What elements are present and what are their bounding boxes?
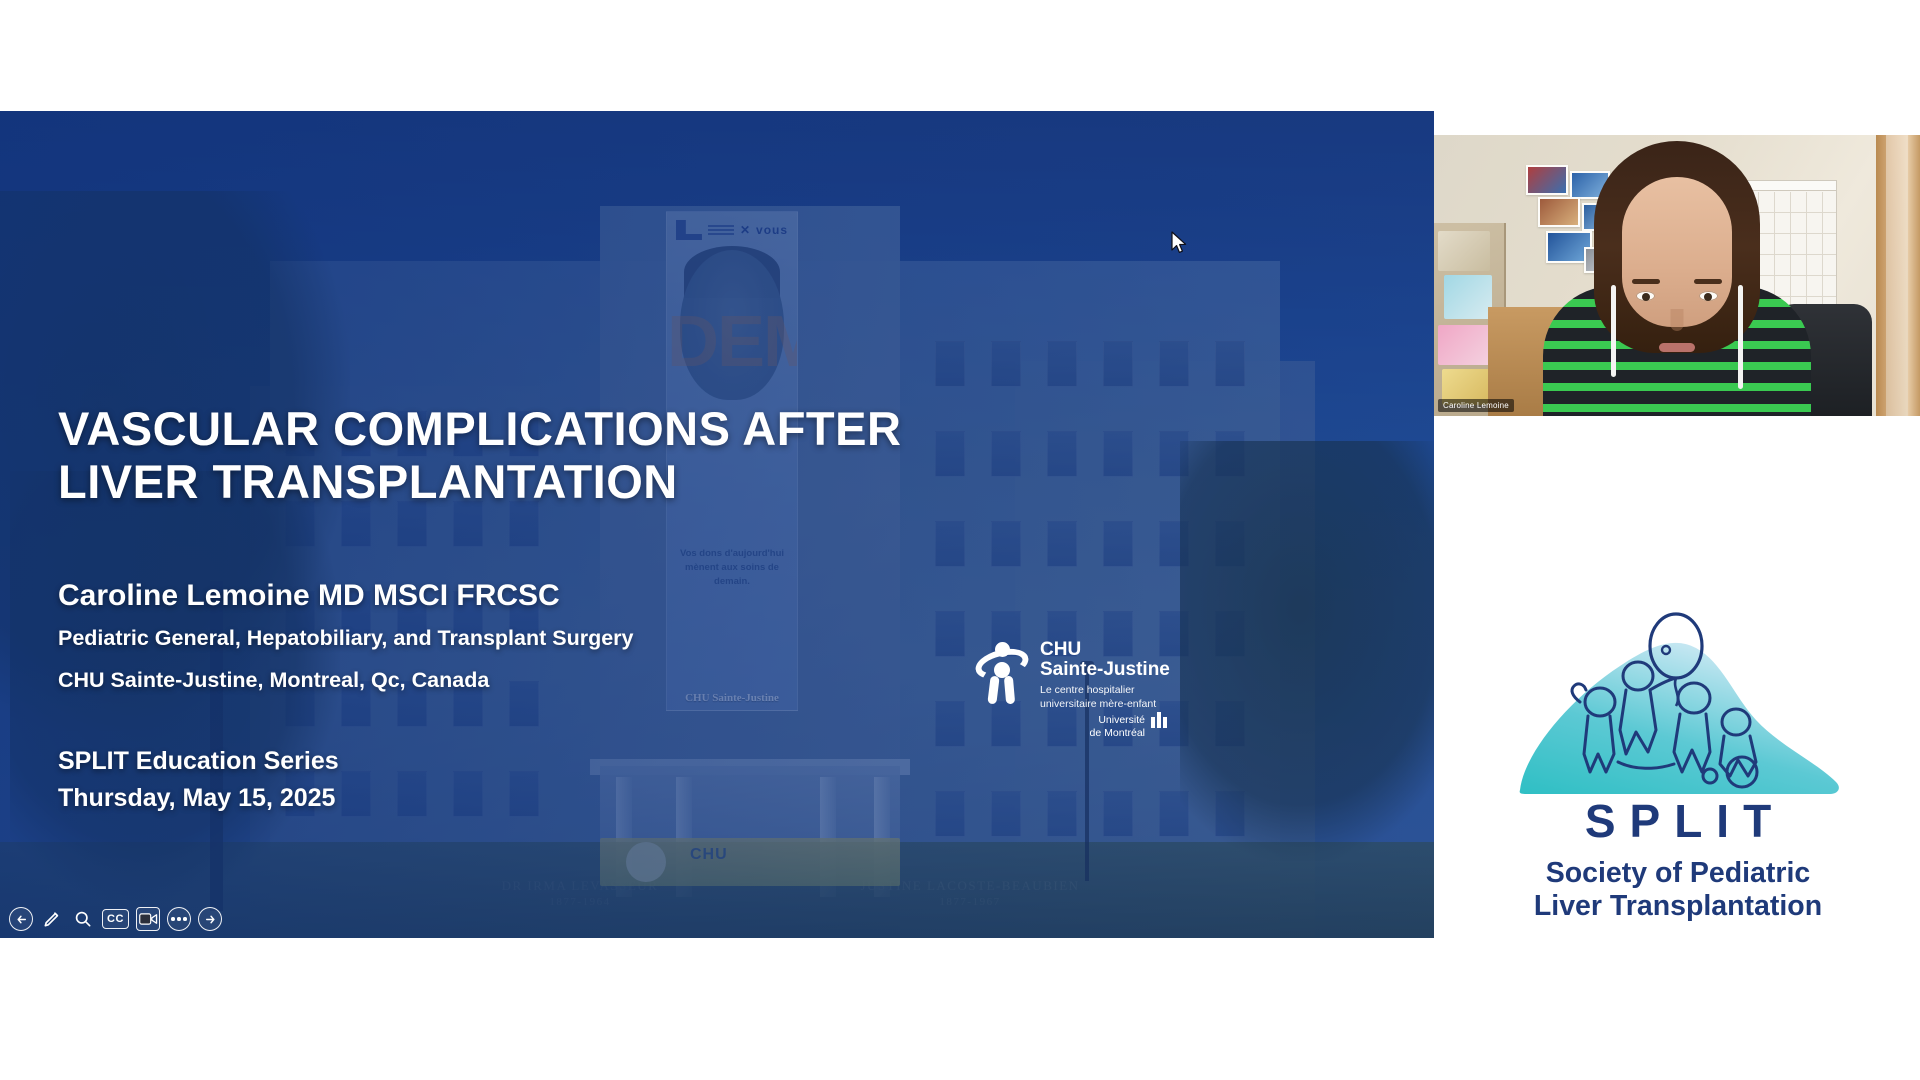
udem-crest-icon bbox=[1151, 710, 1173, 728]
split-hill-icon bbox=[1498, 604, 1858, 804]
chu-logo-tagline: Le centre hospitalier universitaire mère… bbox=[1040, 684, 1156, 712]
pinned-artwork bbox=[1438, 231, 1490, 271]
eyebrow-right bbox=[1694, 279, 1722, 284]
presenter-affiliation-line-2: CHU Sainte-Justine, Montreal, Qc, Canada bbox=[58, 668, 489, 693]
mouth bbox=[1659, 343, 1695, 352]
split-logo: SPLIT Society of Pediatric Liver Transpl… bbox=[1498, 604, 1858, 924]
ellipsis-icon bbox=[171, 917, 187, 921]
chu-tagline-line-2: universitaire mère-enfant bbox=[1040, 698, 1156, 712]
earbud-cable-right bbox=[1738, 285, 1743, 389]
webcam-tile[interactable]: Caroline Lemoine bbox=[1434, 135, 1920, 416]
slide-title-line-1: VASCULAR COMPLICATIONS AFTER bbox=[58, 402, 1058, 455]
split-name-line-2: Liver Transplantation bbox=[1498, 890, 1858, 924]
presenter-affiliation-line-1: Pediatric General, Hepatobiliary, and Tr… bbox=[58, 626, 634, 651]
wall-photo bbox=[1538, 197, 1580, 227]
wall-photo bbox=[1526, 165, 1568, 195]
back-button[interactable] bbox=[9, 907, 33, 931]
chu-figure-icon bbox=[975, 642, 1029, 704]
slide-title-line-2: LIVER TRANSPLANTATION bbox=[58, 455, 1058, 508]
earbud-cable-left bbox=[1611, 285, 1616, 377]
chu-sainte-justine-logo: CHU Sainte-Justine Le centre hospitalier… bbox=[975, 638, 1170, 733]
arrow-right-icon bbox=[204, 913, 217, 926]
forward-button[interactable] bbox=[198, 907, 222, 931]
slide-title: VASCULAR COMPLICATIONS AFTER LIVER TRANS… bbox=[58, 402, 1058, 508]
captions-button[interactable]: CC bbox=[102, 909, 129, 929]
participant-name-label: Caroline Lemoine bbox=[1438, 399, 1514, 412]
annotate-button[interactable] bbox=[40, 907, 64, 931]
universite-de-montreal-label: Université de Montréal bbox=[1067, 714, 1145, 740]
more-options-button[interactable] bbox=[167, 907, 191, 931]
nose bbox=[1671, 309, 1684, 331]
pupil-left bbox=[1642, 293, 1650, 301]
split-acronym: SPLIT bbox=[1498, 794, 1858, 848]
video-button[interactable] bbox=[136, 907, 160, 931]
chu-tagline-line-1: Le centre hospitalier bbox=[1040, 684, 1156, 698]
pupil-right bbox=[1704, 293, 1712, 301]
presenter-name: Caroline Lemoine MD MSCI FRCSC bbox=[58, 579, 560, 613]
arrow-left-icon bbox=[15, 913, 28, 926]
pencil-icon bbox=[42, 909, 62, 929]
eyebrow-left bbox=[1632, 279, 1660, 284]
pinned-artwork bbox=[1438, 325, 1492, 365]
chu-logo-line-1: CHU bbox=[1040, 640, 1081, 661]
chu-logo-line-2: Sainte-Justine bbox=[1040, 660, 1170, 681]
split-name-line-1: Society of Pediatric bbox=[1498, 857, 1858, 891]
udem-line-1: Université bbox=[1067, 714, 1145, 727]
slide-photo-tint bbox=[0, 111, 1434, 938]
participant-head bbox=[1587, 135, 1767, 365]
education-series-label: SPLIT Education Series bbox=[58, 747, 339, 776]
participant-face bbox=[1622, 177, 1732, 327]
video-camera-icon bbox=[139, 912, 158, 926]
slide-player-toolbar[interactable]: CC bbox=[5, 905, 226, 933]
pinned-artwork bbox=[1444, 275, 1492, 319]
screen: ✕ vous DEMAIN Vos dons d'aujourd'hui mèn… bbox=[0, 0, 1920, 1080]
doorframe bbox=[1876, 135, 1920, 416]
udem-line-2: de Montréal bbox=[1067, 727, 1145, 740]
shared-slide-pane[interactable]: ✕ vous DEMAIN Vos dons d'aujourd'hui mèn… bbox=[0, 111, 1434, 938]
zoom-button[interactable] bbox=[71, 907, 95, 931]
magnifier-icon bbox=[73, 909, 93, 929]
presentation-date: Thursday, May 15, 2025 bbox=[58, 784, 335, 813]
